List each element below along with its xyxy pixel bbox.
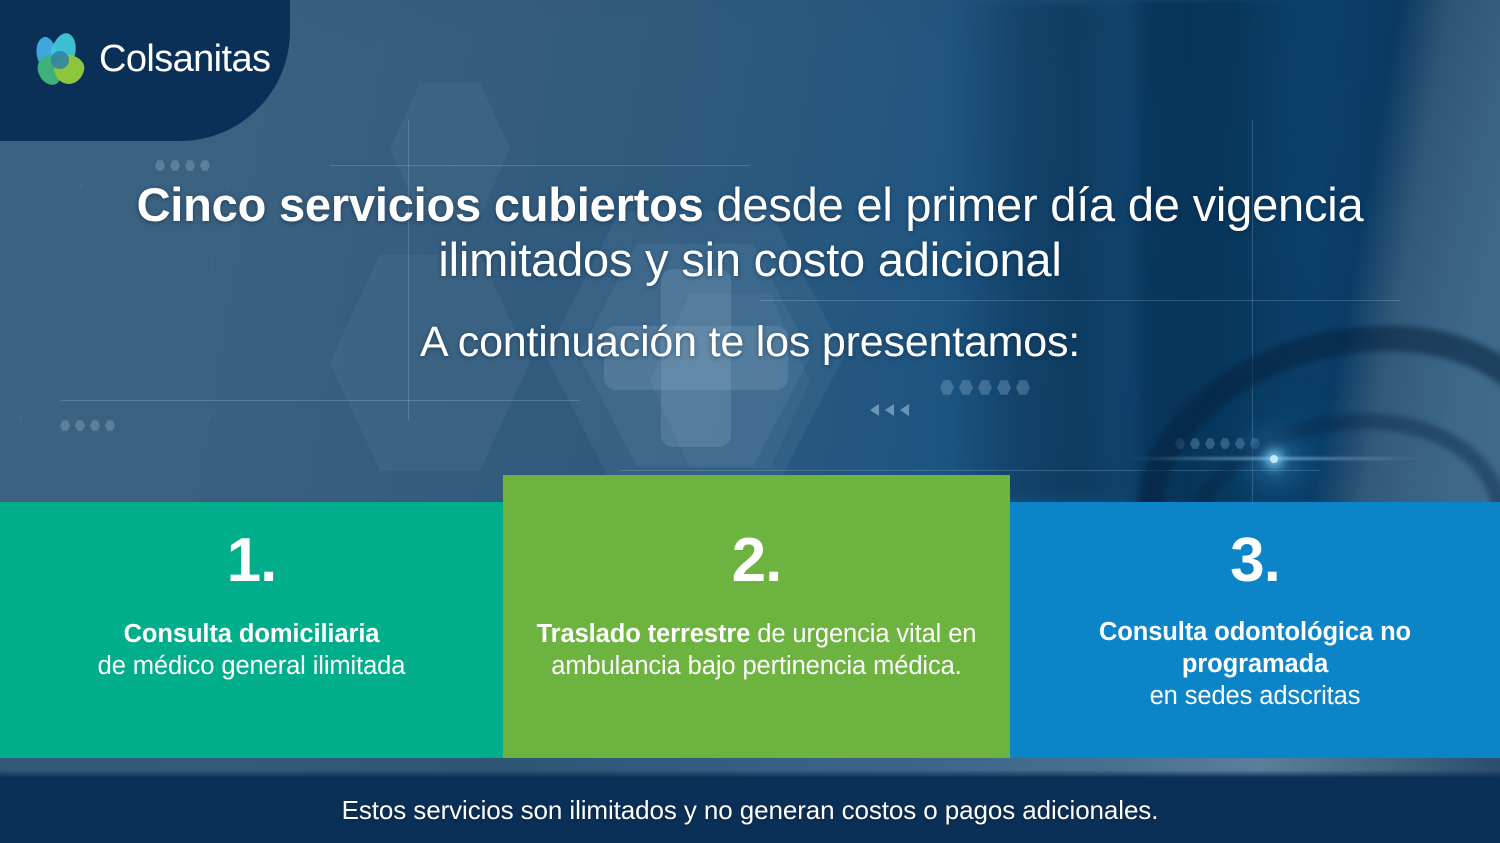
service-card-description: de médico general ilimitada [98, 652, 406, 680]
footer-note: Estos servicios son ilimitados y no gene… [342, 795, 1159, 826]
colsanitas-butterfly-icon [35, 33, 85, 85]
service-card-2: 2. Traslado terrestre de urgencia vital … [503, 475, 1010, 758]
page-subtitle: A continuación te los presentamos: [0, 318, 1500, 367]
service-card-1: 1. Consulta domiciliariade médico genera… [0, 502, 503, 758]
service-card-number: 3. [1034, 530, 1476, 592]
service-card-title: Consulta domiciliaria [124, 620, 380, 648]
brand-name: Colsanitas [99, 40, 270, 78]
service-card-text: Consulta domiciliariade médico general i… [24, 618, 479, 682]
service-card-number: 1. [24, 530, 479, 592]
service-card-text: Traslado terrestre de urgencia vital en … [527, 618, 986, 682]
page-title-bold: Cinco servicios cubiertos [137, 178, 704, 231]
page-title: Cinco servicios cubiertos desde el prime… [0, 178, 1500, 287]
service-card-title: Consulta odontológica no programada [1099, 618, 1411, 678]
service-card-text: Consulta odontológica no programadaen se… [1034, 616, 1476, 712]
service-card-number: 2. [527, 530, 986, 592]
service-card-description: en sedes adscritas [1150, 682, 1361, 710]
service-card-3: 3. Consulta odontológica no programadaen… [1010, 502, 1500, 758]
service-card-title: Traslado terrestre [537, 620, 751, 648]
footer-bar: Estos servicios son ilimitados y no gene… [0, 777, 1500, 843]
presentation-slide: Colsanitas Cinco servicios cubiertos des… [0, 0, 1500, 843]
transition-strip [0, 758, 1500, 777]
